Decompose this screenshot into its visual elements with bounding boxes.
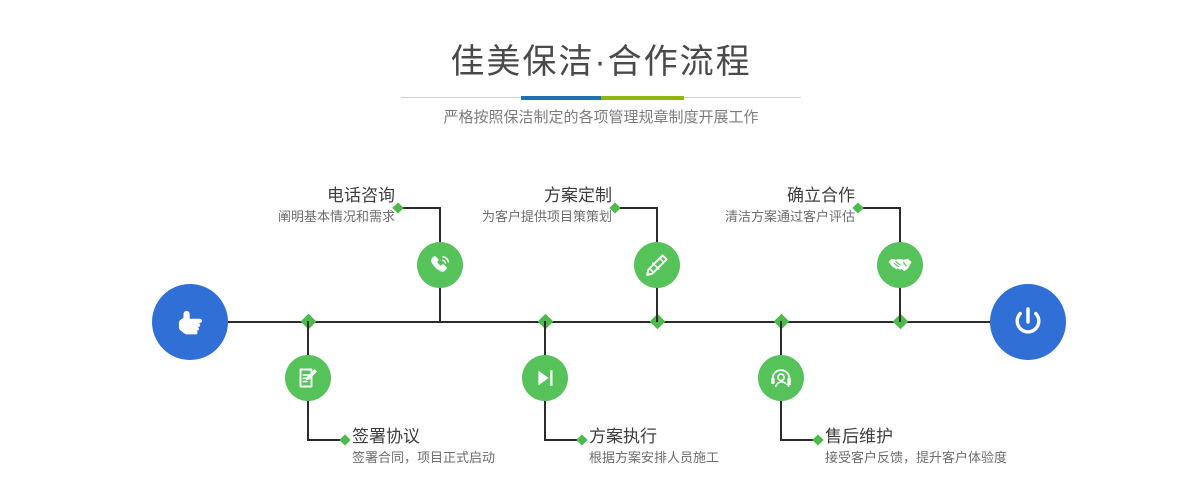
page-title: 佳美保洁·合作流程 xyxy=(0,40,1202,84)
timeline-end-node[interactable] xyxy=(990,284,1066,360)
step-2-label-marker xyxy=(339,434,350,445)
step-5-desc: 清洁方案通过客户评估 xyxy=(615,207,855,227)
step-2-label: 签署协议 签署合同，项目正式启动 xyxy=(352,426,612,468)
step-3-title: 方案定制 xyxy=(372,185,612,207)
step-4-node[interactable] xyxy=(522,355,568,401)
step-6-node[interactable] xyxy=(758,355,804,401)
step-5-label: 确立合作 清洁方案通过客户评估 xyxy=(615,185,855,227)
step-2-node[interactable] xyxy=(285,355,331,401)
step-4-label: 方案执行 根据方案安排人员施工 xyxy=(589,426,849,468)
step-6-title: 售后维护 xyxy=(825,426,1105,448)
step-4-desc: 根据方案安排人员施工 xyxy=(589,448,849,468)
step-3-label: 方案定制 为客户提供项目策策划 xyxy=(372,185,612,227)
page-subtitle: 严格按照保洁制定的各项管理规章制度开展工作 xyxy=(0,106,1202,130)
step-1-node[interactable] xyxy=(417,242,463,288)
step-5-node[interactable] xyxy=(877,242,923,288)
step-5-connector-horizontal xyxy=(862,207,901,209)
step-3-node[interactable] xyxy=(634,242,680,288)
step-2-desc: 签署合同，项目正式启动 xyxy=(352,448,612,468)
step-1-label: 电话咨询 阐明基本情况和需求 xyxy=(155,185,395,227)
step-3-desc: 为客户提供项目策策划 xyxy=(372,207,612,227)
step-6-label: 售后维护 接受客户反馈，提升客户体验度 xyxy=(825,426,1105,468)
divider-segment-green xyxy=(601,96,684,100)
step-1-desc: 阐明基本情况和需求 xyxy=(155,207,395,227)
step-1-title: 电话咨询 xyxy=(155,185,395,207)
divider-segment-blue xyxy=(521,96,601,100)
step-5-title: 确立合作 xyxy=(615,185,855,207)
process-flow-infographic: 佳美保洁·合作流程 严格按照保洁制定的各项管理规章制度开展工作 xyxy=(0,0,1202,502)
title-divider xyxy=(401,96,801,100)
step-4-title: 方案执行 xyxy=(589,426,849,448)
timeline-start-node[interactable] xyxy=(152,284,228,360)
step-2-title: 签署协议 xyxy=(352,426,612,448)
step-6-desc: 接受客户反馈，提升客户体验度 xyxy=(825,448,1105,468)
